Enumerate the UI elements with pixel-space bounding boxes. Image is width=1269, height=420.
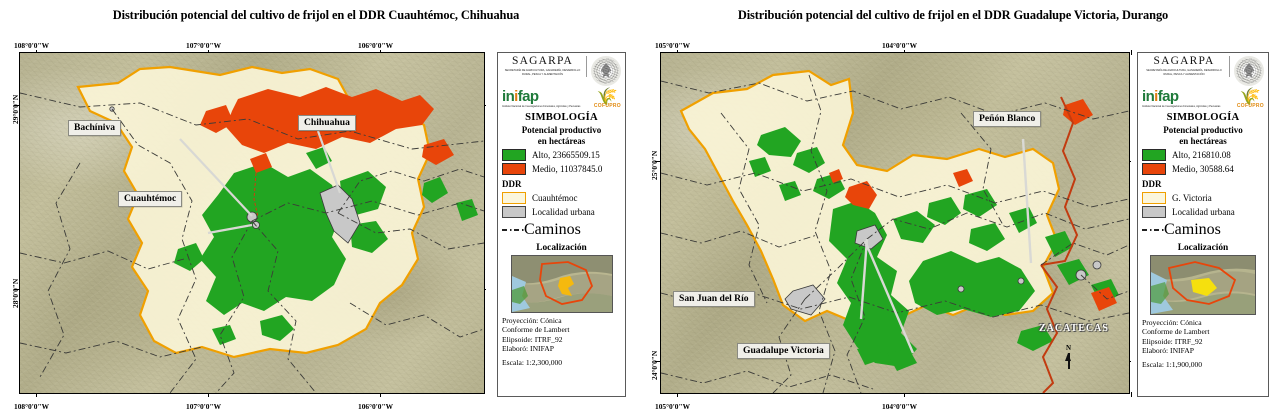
locator-map-1 — [511, 255, 613, 313]
map-vector-layers-2 — [661, 53, 1129, 393]
legend-subheading-2: Potencial productivo en hectáreas — [1142, 125, 1264, 146]
north-arrow-head — [1065, 353, 1071, 361]
lat-tick-label-left-2-1: 24°0'0"N — [650, 351, 659, 380]
meta-line-2-3: Elaboró: INIFAP — [1142, 346, 1264, 355]
lon-tick-label-bot-1-1: 107°0'0"W — [186, 402, 221, 411]
locator-meta-1: Proyección: Cónica Conforme de Lambert E… — [502, 316, 621, 354]
lon-tick-label-top-1-1: 107°0'0"W — [186, 41, 221, 50]
legend-class-medio-2: Medio, 30588.64 — [1142, 163, 1264, 175]
scale-text-1: Escala: 1:2,300,000 — [502, 358, 621, 367]
legend-logos-row-1: SAGARPA SECRETARÍA DE AGRICULTURA, GANAD… — [502, 56, 621, 86]
legend-ddr-item-1-0: Cuauhtémoc — [502, 192, 621, 204]
lon-tick-label-bot-2-1: 104°0'0"W — [882, 402, 917, 411]
map-title-2: Distribución potencial del cultivo de fr… — [637, 8, 1269, 23]
legend-ddr-label-2-0: G. Victoria — [1172, 193, 1212, 203]
meta-line-1-3: Elaboró: INIFAP — [502, 344, 621, 353]
legend-ddr-label-1-0: Cuauhtémoc — [532, 193, 578, 203]
legend-class-medio-label-1: Medio, 11037845.0 — [532, 164, 602, 174]
legend-ddr-item-2-1: Localidad urbana — [1142, 206, 1264, 218]
legend-roads-row-1: Caminos — [502, 221, 621, 239]
place-label-penon-blanco[interactable]: Peñón Blanco — [973, 111, 1041, 127]
inifap-logo-text: inifap — [502, 89, 580, 104]
legend-ddr-heading-2: DDR — [1142, 179, 1264, 189]
scale-text-2: Escala: 1:1,900,000 — [1142, 360, 1264, 369]
map-sheet: Distribución potencial del cultivo de fr… — [0, 0, 1269, 420]
legend-subheading-line2-2: en hectáreas — [1179, 136, 1227, 146]
legend-class-medio-label-2: Medio, 30588.64 — [1172, 164, 1234, 174]
map-vector-layers-1 — [20, 53, 484, 393]
north-arrow-label: N — [1066, 344, 1071, 352]
lat-tick-label-left-2-0: 25°0'0"N — [650, 151, 659, 180]
lon-tick-label-top-1-0: 108°0'0"W — [14, 41, 49, 50]
legend-heading-2: SIMBOLOGÍA — [1142, 112, 1264, 123]
legend-ddr-label-1-1: Localidad urbana — [532, 207, 595, 217]
locator-title-2: Localización — [1142, 243, 1264, 253]
lon-tick-bot-2-2 — [1131, 392, 1132, 397]
lon-tick-label-bot-2-0: 105°0'0"W — [655, 402, 690, 411]
sagarpa-logo-text: SAGARPA — [502, 56, 583, 68]
lon-tick-label-top-2-0: 105°0'0"W — [655, 41, 690, 50]
dashed-line-icon-2 — [1142, 225, 1164, 235]
legend-ddr-item-2-0: G. Victoria — [1142, 192, 1264, 204]
legend-subheading-line2: en hectáreas — [538, 136, 586, 146]
legend-panel-2: SAGARPA SECRETARÍA DE AGRICULTURA, GANAD… — [1137, 52, 1269, 397]
swatch-medio-2 — [1142, 163, 1166, 175]
swatch-alto-2 — [1142, 149, 1166, 161]
inifap-logo-subtext: Instituto Nacional de Investigaciones Fo… — [502, 105, 580, 109]
meta-line-2-0: Proyección: Cónica — [1142, 318, 1264, 327]
lon-tick-top-2-2 — [1131, 50, 1132, 55]
legend-roads-label-1: Caminos — [524, 221, 581, 239]
legend-class-alto-2: Alto, 216810.08 — [1142, 149, 1264, 161]
legend-class-medio-1: Medio, 11037845.0 — [502, 163, 621, 175]
legend-ddr-heading-1: DDR — [502, 179, 621, 189]
inifap-logo-subtext-2: Instituto Nacional de Investigaciones Fo… — [1142, 105, 1220, 109]
lon-tick-label-bot-1-2: 106°0'0"W — [358, 402, 393, 411]
meta-line-2-1: Conforme de Lambert — [1142, 327, 1264, 336]
sagarpa-logo-text-2: SAGARPA — [1142, 56, 1226, 68]
dashed-line-icon-1 — [502, 225, 524, 235]
legend-roads-label-2: Caminos — [1164, 221, 1221, 239]
legend-heading-1: SIMBOLOGÍA — [502, 112, 621, 123]
meta-line-1-2: Elipsoide: ITRF_92 — [502, 335, 621, 344]
legend-subheading-1: Potencial productivo en hectáreas — [502, 125, 621, 146]
map-canvas-guadalupe-victoria[interactable]: Peñón Blanco San Juan del Río Guadalupe … — [660, 52, 1130, 394]
legend-logos-row-2: inifap Instituto Nacional de Investigaci… — [502, 88, 621, 109]
swatch-urban-2 — [1142, 206, 1166, 218]
cofupro-logo-text: COFUPRO — [594, 104, 621, 109]
map-panel-cuauhtemoc: Distribución potencial del cultivo de fr… — [0, 0, 632, 420]
locator-meta-2: Proyección: Cónica Conforme de Lambert E… — [1142, 318, 1264, 356]
legend-class-alto-label-1: Alto, 23665509.15 — [532, 150, 600, 160]
map-panel-guadalupe-victoria: Distribución potencial del cultivo de fr… — [637, 0, 1269, 420]
lon-tick-label-bot-1-0: 108°0'0"W — [14, 402, 49, 411]
sagarpa-logo-subtext: SECRETARÍA DE AGRICULTURA, GANADERÍA, DE… — [502, 69, 583, 77]
locator-title-1: Localización — [502, 243, 621, 253]
place-label-bachiniva[interactable]: Bachíniva — [68, 120, 121, 136]
mexican-eagle-seal-icon — [591, 56, 621, 86]
map-canvas-cuauhtemoc[interactable]: Bachíniva Chihuahua Cuauhtémoc — [19, 52, 485, 394]
place-label-chihuahua[interactable]: Chihuahua — [298, 115, 356, 131]
place-label-cuauhtemoc[interactable]: Cuauhtémoc — [118, 191, 182, 207]
mexican-eagle-seal-icon-2 — [1234, 56, 1264, 86]
legend-class-alto-1: Alto, 23665509.15 — [502, 149, 621, 161]
swatch-medio-1 — [502, 163, 526, 175]
legend-class-alto-label-2: Alto, 216810.08 — [1172, 150, 1231, 160]
swatch-urban-1 — [502, 206, 526, 218]
swatch-alto-1 — [502, 149, 526, 161]
legend-panel-1: SAGARPA SECRETARÍA DE AGRICULTURA, GANAD… — [497, 52, 626, 397]
inifap-logo-text-2: inifap — [1142, 89, 1220, 104]
swatch-ddr-boundary-2 — [1142, 192, 1166, 204]
place-label-guadalupe-victoria[interactable]: Guadalupe Victoria — [737, 343, 830, 359]
legend-logos-row-2-1: SAGARPA SECRETARÍA DE AGRICULTURA, GANAD… — [1142, 56, 1264, 86]
sagarpa-logo-subtext-2: SECRETARÍA DE AGRICULTURA, GANADERÍA, DE… — [1142, 69, 1226, 77]
legend-ddr-label-2-1: Localidad urbana — [1172, 207, 1235, 217]
legend-ddr-item-1-1: Localidad urbana — [502, 206, 621, 218]
place-label-san-juan-del-rio[interactable]: San Juan del Río — [673, 291, 755, 307]
legend-subheading-line1-2: Potencial productivo — [1163, 125, 1243, 135]
legend-logos-row-2-2: inifap Instituto Nacional de Investigaci… — [1142, 88, 1264, 109]
meta-line-1-1: Conforme de Lambert — [502, 325, 621, 334]
cofupro-logo-text-2: COFUPRO — [1237, 104, 1264, 109]
meta-line-1-0: Proyección: Cónica — [502, 316, 621, 325]
meta-line-2-2: Elipsoide: ITRF_92 — [1142, 337, 1264, 346]
locator-map-2 — [1150, 255, 1256, 315]
lon-tick-label-top-2-1: 104°0'0"W — [882, 41, 917, 50]
lon-tick-label-top-1-2: 106°0'0"W — [358, 41, 393, 50]
map-title-1: Distribución potencial del cultivo de fr… — [0, 8, 632, 23]
state-label-zacatecas: ZACATECAS — [1039, 323, 1109, 334]
legend-roads-row-2: Caminos — [1142, 221, 1264, 239]
legend-subheading-line1: Potencial productivo — [522, 125, 602, 135]
swatch-ddr-boundary-1 — [502, 192, 526, 204]
